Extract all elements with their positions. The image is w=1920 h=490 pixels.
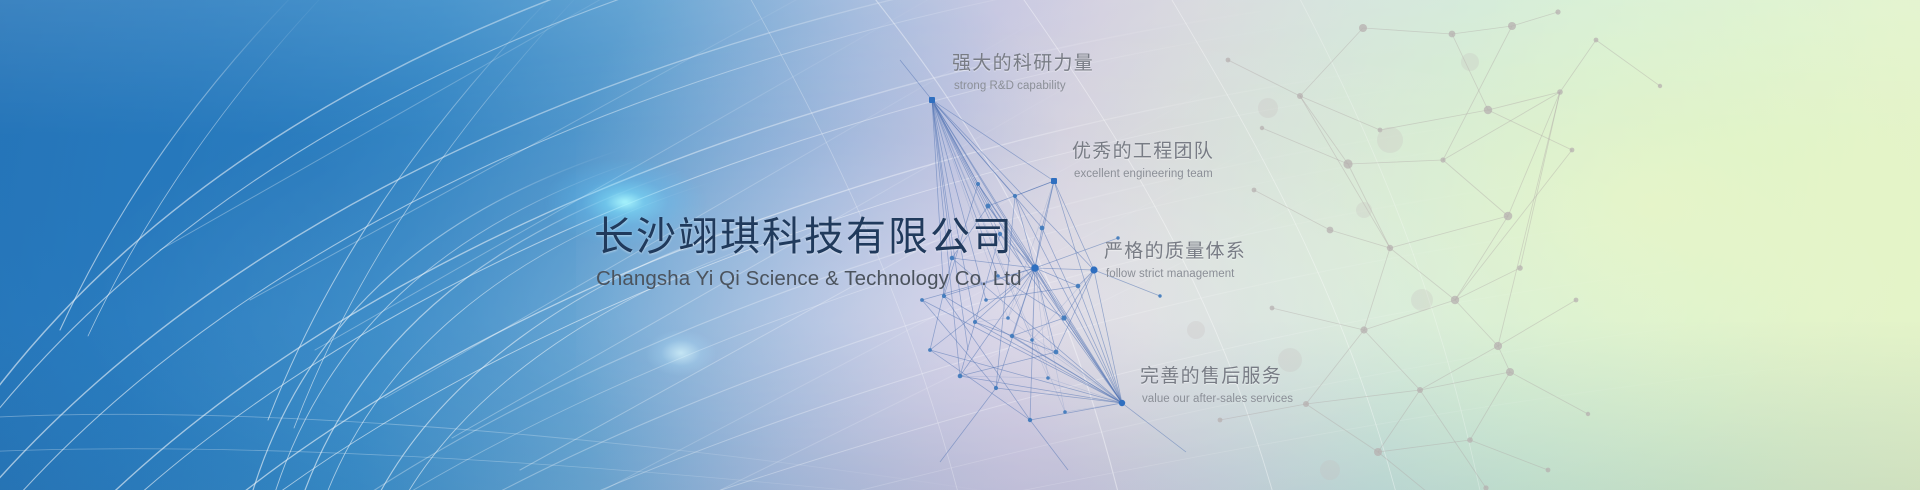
company-name-english: Changsha Yi Qi Science & Technology Co. …	[596, 267, 1074, 292]
feature-title-chinese: 优秀的工程团队	[1072, 140, 1214, 164]
hero-banner: 长沙翊琪科技有限公司 Changsha Yi Qi Science & Tech…	[0, 0, 1920, 490]
feature-item-after-sales: 完善的售后服务 value our after-sales services	[1140, 365, 1293, 406]
feature-title-chinese: 强大的科研力量	[952, 52, 1094, 76]
company-name-chinese: 长沙翊琪科技有限公司	[594, 216, 1074, 259]
feature-item-rd: 强大的科研力量 strong R&D capability	[952, 52, 1094, 93]
feature-title-chinese: 完善的售后服务	[1140, 365, 1293, 389]
feature-title-english: strong R&D capability	[954, 79, 1094, 93]
feature-item-engineering: 优秀的工程团队 excellent engineering team	[1072, 140, 1214, 181]
feature-title-english: follow strict management	[1106, 267, 1246, 281]
feature-title-chinese: 严格的质量体系	[1104, 240, 1246, 264]
feature-item-quality: 严格的质量体系 follow strict management	[1104, 240, 1246, 281]
secondary-glow-accent	[646, 330, 716, 376]
feature-title-english: excellent engineering team	[1074, 167, 1214, 181]
feature-title-english: value our after-sales services	[1142, 392, 1293, 406]
brand-lockup: 长沙翊琪科技有限公司 Changsha Yi Qi Science & Tech…	[594, 216, 1074, 292]
